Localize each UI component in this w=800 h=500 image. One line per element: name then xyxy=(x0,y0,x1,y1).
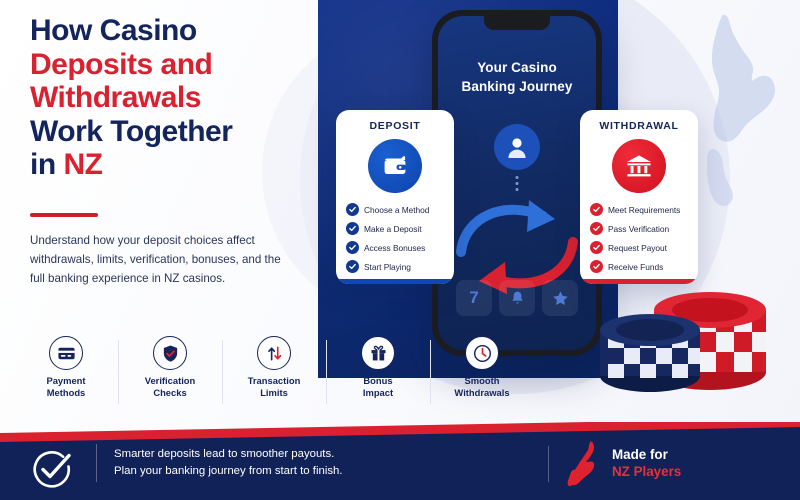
footer-tagline-line-1: Smarter deposits lead to smoother payout… xyxy=(114,448,334,460)
feature-label: Smooth Withdrawals xyxy=(454,375,509,399)
phone-screen: Your Casino Banking Journey xyxy=(438,16,596,350)
check-icon xyxy=(590,203,603,216)
feature-label-line-1: Verification xyxy=(145,375,196,386)
footer-badge-text: Made for NZ Players xyxy=(612,446,681,481)
list-item: Receive Funds xyxy=(590,260,689,273)
phone-mockup: Your Casino Banking Journey xyxy=(432,10,602,356)
list-item-label: Request Payout xyxy=(608,243,667,253)
deposit-card: DEPOSIT Choose a Method Make a Deposit A… xyxy=(336,110,454,284)
feature-bonus-impact[interactable]: Bonus Impact xyxy=(326,336,430,412)
check-icon xyxy=(346,241,359,254)
list-item-label: Pass Verification xyxy=(608,224,669,234)
feature-label-line-2: Checks xyxy=(153,387,186,398)
up-down-arrows-icon xyxy=(257,336,291,370)
phone-tile-row: 7 xyxy=(456,280,578,316)
headline-line-3: Withdrawals xyxy=(30,81,201,114)
page-title: How Casino Deposits and Withdrawals Work… xyxy=(30,14,320,182)
nz-map-watermark-icon xyxy=(686,2,800,212)
check-icon xyxy=(590,222,603,235)
phone-notch xyxy=(484,16,550,30)
list-item: Make a Deposit xyxy=(346,222,445,235)
phone-tile-seven[interactable]: 7 xyxy=(456,280,492,316)
list-item-label: Access Bonuses xyxy=(364,243,425,253)
footer-tagline: Smarter deposits lead to smoother payout… xyxy=(114,446,343,480)
check-circle-icon xyxy=(30,448,74,492)
seven-glyph: 7 xyxy=(469,288,478,308)
credit-card-icon xyxy=(49,336,83,370)
list-item: Start Playing xyxy=(346,260,445,273)
withdrawal-checklist: Meet Requirements Pass Verification Requ… xyxy=(589,203,689,273)
feature-label-line-2: Methods xyxy=(47,387,86,398)
feature-label-line-1: Smooth xyxy=(465,375,500,386)
deposit-card-icon-badge xyxy=(368,139,422,193)
footer-tagline-line-2: Plan your banking journey from start to … xyxy=(114,465,343,477)
list-item: Meet Requirements xyxy=(590,203,689,216)
feature-row: Payment Methods Verification Checks xyxy=(14,336,534,412)
feature-label-line-2: Impact xyxy=(363,387,393,398)
wallet-icon xyxy=(380,151,410,181)
list-item: Pass Verification xyxy=(590,222,689,235)
feature-label: Bonus Impact xyxy=(363,375,393,399)
headline-line-2: Deposits and xyxy=(30,48,212,81)
feature-label: Verification Checks xyxy=(145,375,196,399)
deposit-checklist: Choose a Method Make a Deposit Access Bo… xyxy=(345,203,445,273)
bank-icon xyxy=(624,151,654,181)
feature-label: Payment Methods xyxy=(46,375,85,399)
footer-badge-divider xyxy=(548,446,549,482)
check-icon xyxy=(590,241,603,254)
footer-badge-line-2: NZ Players xyxy=(612,464,681,479)
title-underline-rule xyxy=(30,213,98,217)
flow-dots xyxy=(516,176,519,191)
phone-tile-bell[interactable] xyxy=(499,280,535,316)
avatar xyxy=(494,124,540,170)
deposit-card-title: DEPOSIT xyxy=(345,120,445,132)
footer-bar: Smarter deposits lead to smoother payout… xyxy=(0,422,800,500)
headline-line-5-prefix: in xyxy=(30,148,64,181)
shield-check-icon xyxy=(153,336,187,370)
phone-heading-line-1: Your Casino xyxy=(477,60,557,75)
headline-line-1: How Casino xyxy=(30,14,197,47)
feature-label-line-1: Bonus xyxy=(363,375,392,386)
phone-heading-line-2: Banking Journey xyxy=(461,79,572,94)
bell-icon xyxy=(509,290,526,307)
navy-chip-stack xyxy=(600,314,700,392)
nz-map-icon xyxy=(560,440,608,486)
feature-smooth-withdrawals[interactable]: Smooth Withdrawals xyxy=(430,336,534,412)
feature-label-line-1: Transaction xyxy=(248,375,301,386)
list-item-label: Make a Deposit xyxy=(364,224,422,234)
casino-chips-illustration xyxy=(592,276,792,396)
subtitle-text: Understand how your deposit choices affe… xyxy=(30,232,298,288)
list-item-label: Receive Funds xyxy=(608,262,663,272)
feature-payment-methods[interactable]: Payment Methods xyxy=(14,336,118,412)
list-item: Choose a Method xyxy=(346,203,445,216)
headline-line-5-accent: NZ xyxy=(64,148,103,181)
feature-verification-checks[interactable]: Verification Checks xyxy=(118,336,222,412)
star-icon xyxy=(552,290,569,307)
withdrawal-card: WITHDRAWAL Meet Requirements Pass Verifi… xyxy=(580,110,698,284)
feature-transaction-limits[interactable]: Transaction Limits xyxy=(222,336,326,412)
phone-heading: Your Casino Banking Journey xyxy=(438,58,596,96)
withdrawal-card-icon-badge xyxy=(612,139,666,193)
feature-label-line-2: Limits xyxy=(260,387,288,398)
list-item-label: Start Playing xyxy=(364,262,411,272)
list-item: Request Payout xyxy=(590,241,689,254)
clock-icon xyxy=(465,336,499,370)
footer-badge-line-1: Made for xyxy=(612,447,668,462)
withdrawal-card-title: WITHDRAWAL xyxy=(589,120,689,132)
feature-label-line-1: Payment xyxy=(46,375,85,386)
check-icon xyxy=(346,260,359,273)
footer-divider xyxy=(96,444,97,482)
phone-tile-star[interactable] xyxy=(542,280,578,316)
check-icon xyxy=(590,260,603,273)
list-item-label: Choose a Method xyxy=(364,205,429,215)
headline-line-4: Work Together xyxy=(30,115,232,148)
feature-label-line-2: Withdrawals xyxy=(454,387,509,398)
check-icon xyxy=(346,222,359,235)
infographic-canvas: How Casino Deposits and Withdrawals Work… xyxy=(0,0,800,500)
user-icon xyxy=(504,134,530,160)
check-icon xyxy=(346,203,359,216)
gift-icon xyxy=(361,336,395,370)
list-item-label: Meet Requirements xyxy=(608,205,680,215)
deposit-card-accent-bar xyxy=(336,279,454,284)
feature-label: Transaction Limits xyxy=(248,375,301,399)
list-item: Access Bonuses xyxy=(346,241,445,254)
